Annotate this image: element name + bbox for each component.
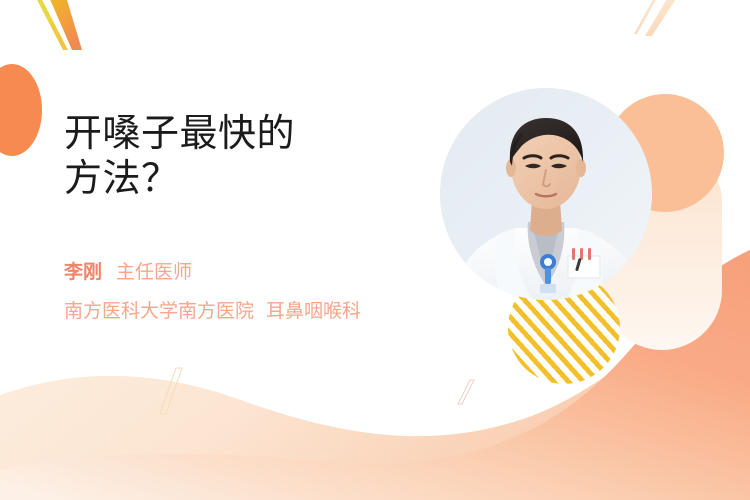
- doctor-info-card: 开嗓子最快的 方法？ 李刚主任医师 南方医科大学南方医院耳鼻咽喉科: [0, 0, 750, 500]
- top-left-diagonal-stripes: [32, 0, 82, 50]
- doctor-title: 主任医师: [116, 262, 192, 283]
- doctor-photo: [440, 88, 652, 300]
- portrait-cluster: [432, 70, 732, 380]
- doctor-hospital: 南方医科大学南方医院: [64, 301, 254, 322]
- doctor-portrait-illustration: [440, 88, 652, 300]
- doctor-affiliation: 南方医科大学南方医院耳鼻咽喉科: [64, 299, 424, 326]
- text-block: 开嗓子最快的 方法？ 李刚主任医师 南方医科大学南方医院耳鼻咽喉科: [64, 112, 424, 326]
- page-title: 开嗓子最快的 方法？: [64, 112, 424, 202]
- top-right-diagonal-stripes: [634, 0, 679, 36]
- doctor-department: 耳鼻咽喉科: [266, 301, 361, 322]
- doctor-name: 李刚: [64, 262, 102, 283]
- doctor-byline: 李刚主任医师: [64, 260, 424, 287]
